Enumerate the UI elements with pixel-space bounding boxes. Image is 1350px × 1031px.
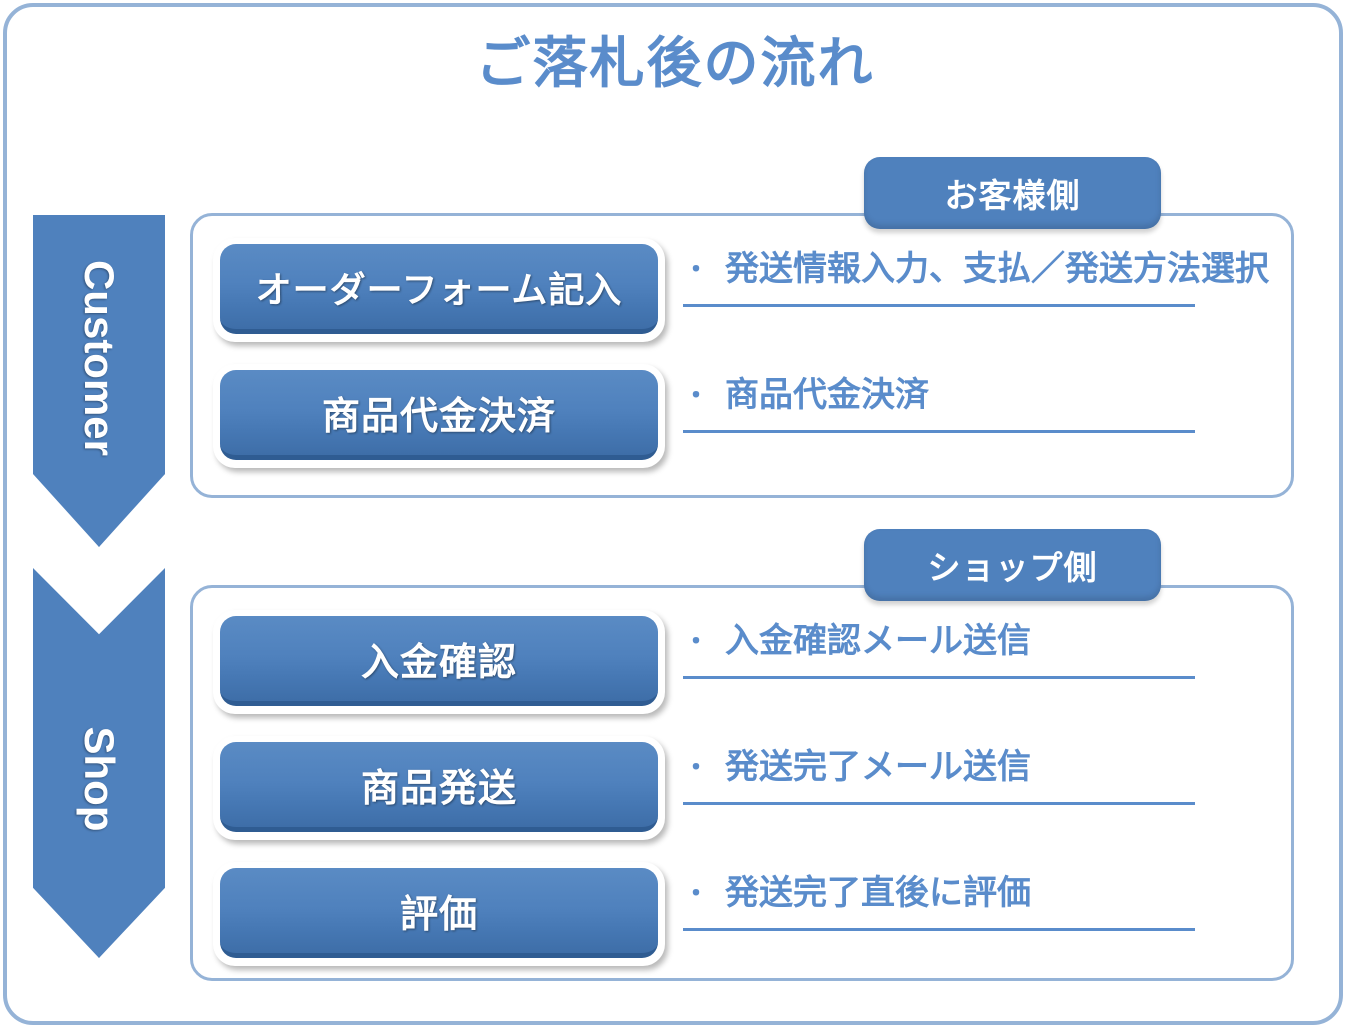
step-button-rating[interactable]: 評価 <box>213 862 665 966</box>
bullet-icon: ・ <box>683 754 709 786</box>
flow-diagram-canvas: ご落札後の流れ Customer Shop オーダーフォーム記入 ・ 発送情報入… <box>0 0 1350 1031</box>
group-box-shop: 入金確認 ・ 入金確認メール送信 商品発送 ・ 発送完了メール送信 <box>190 585 1294 981</box>
banner-shop-label: Shop <box>75 726 123 831</box>
step-row: 商品代金決済 ・ 商品代金決済 <box>193 364 1297 468</box>
group-box-customer: オーダーフォーム記入 ・ 発送情報入力、支払／発送方法選択 商品代金決済 ・ 商… <box>190 213 1294 498</box>
banner-shop: Shop <box>33 568 165 958</box>
step-row: オーダーフォーム記入 ・ 発送情報入力、支払／発送方法選択 <box>193 238 1297 342</box>
step-description: ・ 入金確認メール送信 <box>683 624 1195 700</box>
step-button-label: 評価 <box>220 868 658 958</box>
bullet-icon: ・ <box>683 382 709 414</box>
step-description-text: 発送情報入力、支払／発送方法選択 <box>725 252 1269 288</box>
step-description-text: 商品代金決済 <box>725 378 929 414</box>
step-description: ・ 発送完了メール送信 <box>683 750 1195 826</box>
step-description-text: 発送完了直後に評価 <box>725 876 1031 912</box>
banner-customer-label: Customer <box>75 260 123 456</box>
step-row: 入金確認 ・ 入金確認メール送信 <box>193 610 1297 714</box>
description-underline <box>683 304 1195 307</box>
step-row: 商品発送 ・ 発送完了メール送信 <box>193 736 1297 840</box>
description-underline <box>683 430 1195 433</box>
step-button-shipping[interactable]: 商品発送 <box>213 736 665 840</box>
bullet-icon: ・ <box>683 880 709 912</box>
badge-shop-side: ショップ側 <box>864 529 1161 601</box>
description-underline <box>683 802 1195 805</box>
badge-customer-side: お客様側 <box>864 157 1161 229</box>
banner-customer: Customer <box>33 215 165 547</box>
step-button-payment-confirm[interactable]: 入金確認 <box>213 610 665 714</box>
step-button-label: 商品代金決済 <box>220 370 658 460</box>
step-row: 評価 ・ 発送完了直後に評価 <box>193 862 1297 966</box>
step-button-payment[interactable]: 商品代金決済 <box>213 364 665 468</box>
step-button-label: オーダーフォーム記入 <box>220 244 658 334</box>
description-underline <box>683 676 1195 679</box>
step-button-order-form[interactable]: オーダーフォーム記入 <box>213 238 665 342</box>
step-description: ・ 商品代金決済 <box>683 378 1195 454</box>
bullet-icon: ・ <box>683 256 709 288</box>
description-underline <box>683 928 1195 931</box>
step-button-label: 入金確認 <box>220 616 658 706</box>
step-button-label: 商品発送 <box>220 742 658 832</box>
bullet-icon: ・ <box>683 628 709 660</box>
step-description: ・ 発送情報入力、支払／発送方法選択 <box>683 252 1195 328</box>
page-title: ご落札後の流れ <box>0 18 1350 98</box>
step-description: ・ 発送完了直後に評価 <box>683 876 1195 952</box>
step-description-text: 発送完了メール送信 <box>725 750 1031 786</box>
step-description-text: 入金確認メール送信 <box>725 624 1031 660</box>
